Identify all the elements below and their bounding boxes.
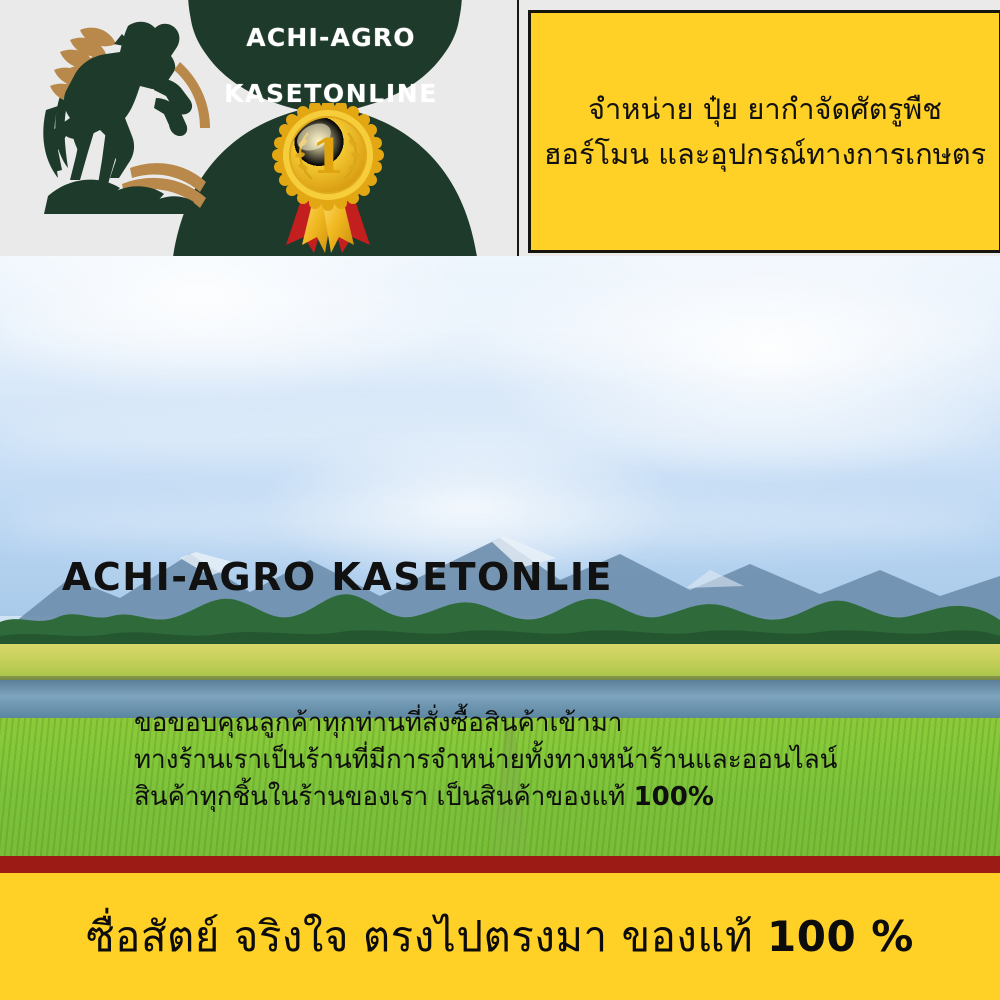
gold-medal-icon: 1 bbox=[272, 103, 384, 253]
farm-photo-background: ACHI-AGRO KASETONLIE ขอขอบคุณลูกค้าทุกท่… bbox=[0, 256, 1000, 856]
cloud-band-2 bbox=[0, 406, 1000, 466]
header-vertical-divider bbox=[517, 0, 519, 256]
thank-you-text: ขอขอบคุณลูกค้าทุกท่านที่สั่งซื้อสินค้าเข… bbox=[134, 708, 837, 812]
promo-poster: ACHI-AGRO KASETONLINE bbox=[0, 0, 1000, 1000]
footer-slogan-text: ซื่อสัตย์ จริงใจ ตรงไปตรงมา ของแท้ bbox=[86, 912, 767, 961]
cloud-band-1 bbox=[0, 296, 1000, 366]
footer-accent-bar bbox=[0, 856, 1000, 873]
promo-box: จำหน่าย ปุ๋ย ยากำจัดศัตรูพืช ฮอร์โมน และ… bbox=[528, 10, 1000, 253]
footer-banner: ซื่อสัตย์ จริงใจ ตรงไปตรงมา ของแท้ 100 % bbox=[0, 873, 1000, 1000]
authentic-percent-badge: 100% bbox=[634, 782, 714, 812]
horse-wheat-logo-icon bbox=[24, 18, 224, 223]
promo-box-text: จำหน่าย ปุ๋ย ยากำจัดศัตรูพืช ฮอร์โมน และ… bbox=[536, 87, 994, 175]
header-banner: ACHI-AGRO KASETONLINE bbox=[0, 0, 1000, 256]
brand-line-1: ACHI-AGRO bbox=[196, 10, 466, 66]
medal-rank-label: 1 bbox=[311, 129, 344, 185]
page-title: ACHI-AGRO KASETONLIE bbox=[62, 555, 613, 599]
footer-percent-badge: 100 % bbox=[767, 912, 914, 961]
thank-you-paragraph: ขอขอบคุณลูกค้าทุกท่านที่สั่งซื้อสินค้าเข… bbox=[134, 705, 837, 816]
footer-slogan: ซื่อสัตย์ จริงใจ ตรงไปตรงมา ของแท้ 100 % bbox=[86, 904, 914, 970]
